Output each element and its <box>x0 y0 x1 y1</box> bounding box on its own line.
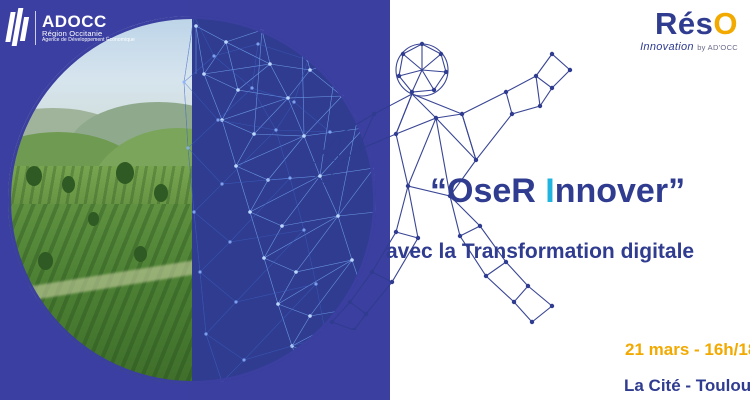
reso-word: Rés <box>655 6 713 41</box>
headline-nnover: nnover <box>555 172 668 210</box>
runner-silhouette-icon <box>300 10 620 330</box>
headline-oser: OseR <box>447 172 545 210</box>
quote-close: ” <box>668 172 685 210</box>
adocc-tagline: Agence de Développement Économique <box>42 38 135 43</box>
event-date: 21 mars - 16h/18 <box>625 340 750 360</box>
reso-o-letter: O <box>713 6 738 41</box>
reso-subtitle: Innovation by AD'OCC <box>640 41 738 53</box>
logo-divider <box>35 11 36 45</box>
quote-open: “ <box>430 172 447 210</box>
adocc-logo[interactable]: ADOCC Région Occitanie Agence de Dévelop… <box>8 4 138 52</box>
event-location: La Cité - Toulou <box>624 376 750 396</box>
event-banner: ADOCC Région Occitanie Agence de Dévelop… <box>0 0 750 400</box>
headline-i-accent: I <box>545 172 554 210</box>
reso-by-adocc: by AD'OCC <box>697 43 738 52</box>
adocc-name: ADOCC <box>42 13 135 31</box>
adocc-mark-icon <box>8 8 30 48</box>
page-title: “OseR Innover” <box>430 172 685 211</box>
reso-wordmark: RésO <box>655 8 738 39</box>
subtitle: avec la Transformation digitale <box>386 240 694 264</box>
adocc-logo-text: ADOCC Région Occitanie Agence de Dévelop… <box>42 13 135 44</box>
reso-innovation-logo[interactable]: RésO Innovation by AD'OCC <box>640 8 738 53</box>
reso-innovation-word: Innovation <box>640 41 694 53</box>
